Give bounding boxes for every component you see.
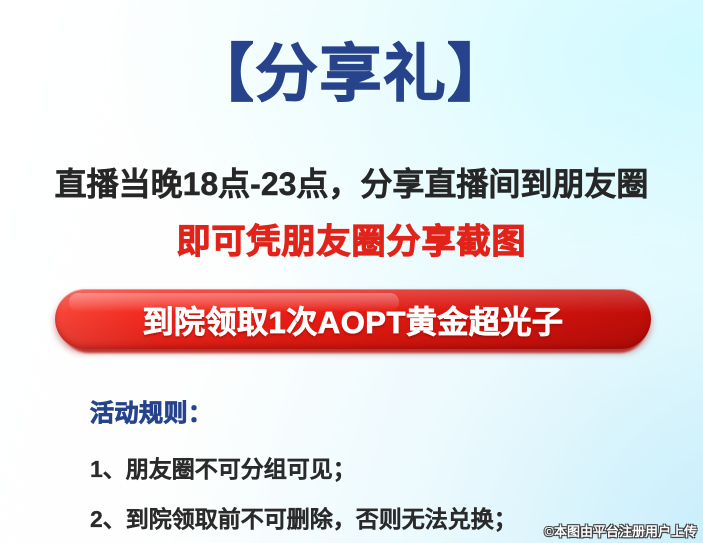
list-item: 1、朋友圈不可分组可见； <box>90 450 650 484</box>
cta-banner: 到院领取1次AOPT黄金超光子 <box>55 289 651 353</box>
poster-title-row: 【分享礼】 <box>0 44 703 106</box>
claim-reward-button-label: 到院领取1次AOPT黄金超光子 <box>143 297 564 342</box>
rules-section: 活动规则： 1、朋友圈不可分组可见； 2、到院领取前不可删除，否则无法兑换； <box>90 393 650 534</box>
page-title: 【分享礼】 <box>191 44 511 106</box>
promo-poster: 【分享礼】 直播当晚18点-23点，分享直播间到朋友圈 即可凭朋友圈分享截图 到… <box>0 0 703 543</box>
claim-reward-button[interactable]: 到院领取1次AOPT黄金超光子 <box>55 289 651 349</box>
subtitle-condition-line: 直播当晚18点-23点，分享直播间到朋友圈 <box>0 167 703 202</box>
watermark-text: ©本图由平台注册用户上传 <box>544 521 697 540</box>
subtitle-highlight-line: 即可凭朋友圈分享截图 <box>0 224 703 261</box>
rules-heading: 活动规则： <box>90 393 650 428</box>
